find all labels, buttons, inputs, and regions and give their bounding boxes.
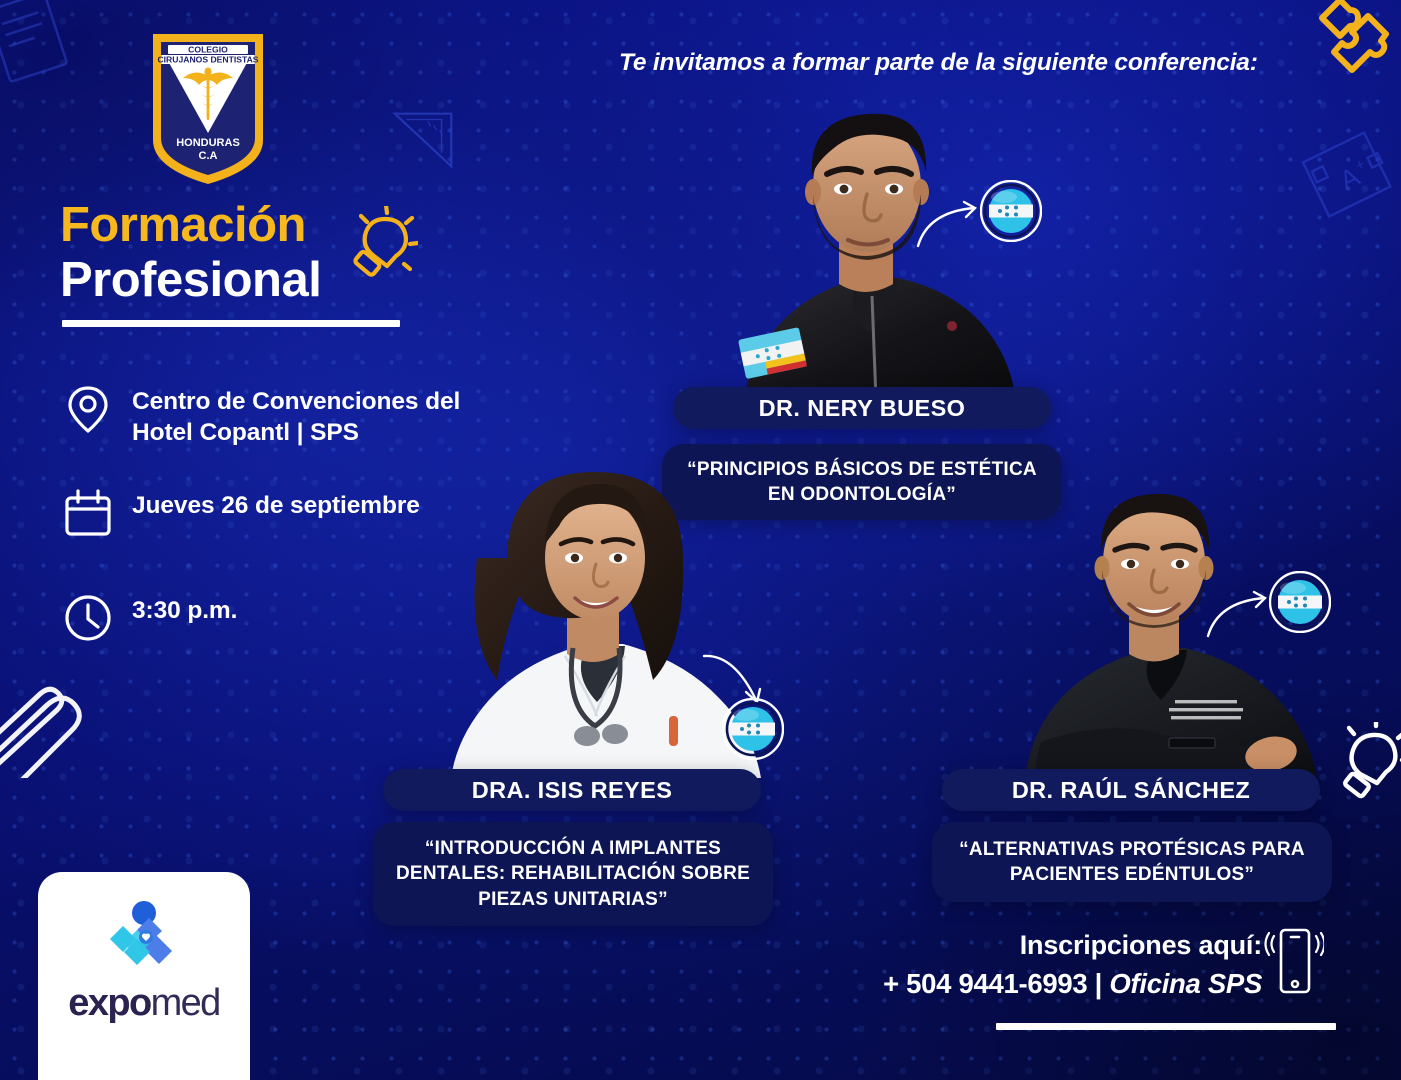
speaker-name-plate-1: DR. NERY BUESO (673, 387, 1051, 429)
invite-headline: Te invitamos a formar parte de la siguie… (619, 49, 1359, 77)
expomed-wordmark: expomed (68, 984, 219, 1022)
honduras-flag-badge-3 (1269, 571, 1331, 633)
speaker-photo-isis-reyes (415, 448, 775, 778)
registration-divider (996, 1023, 1336, 1030)
expomed-word-expo: expo (68, 982, 150, 1024)
expomed-person-icon (100, 900, 188, 974)
title-divider (62, 320, 400, 327)
speaker-topic-2: “INTRODUCCIÓN A IMPLANTESDENTALES: REHAB… (373, 822, 773, 926)
speaker-topic-3: “ALTERNATIVAS PROTÉSICAS PARAPACIENTES E… (932, 822, 1332, 902)
detail-time-text: 3:30 p.m. (132, 592, 237, 627)
honduras-flag-badge-2 (722, 698, 784, 760)
pointer-arrow-3 (1204, 582, 1278, 642)
registration-block: Inscripciones aquí: + 504 9441-6993 | Of… (840, 930, 1340, 1000)
detail-location-text: Centro de Convenciones delHotel Copantl … (132, 383, 460, 449)
flyer-canvas: A + (0, 0, 1401, 1080)
colegio-crest-logo: COLEGIO CIRUJANOS DENTISTAS HONDURAS C.A (147, 28, 269, 188)
honduras-flag-badge-1 (980, 180, 1042, 242)
detail-row-date: Jueves 26 de septiembre (62, 487, 420, 539)
pointer-arrow-1 (914, 192, 986, 252)
expomed-sponsor-card: expomed (38, 872, 250, 1080)
lightbulb-gold-icon (348, 206, 418, 284)
clock-icon (62, 592, 114, 644)
crest-top-text: COLEGIO (188, 45, 228, 55)
location-pin-icon (62, 383, 114, 435)
speaker-name-plate-2: DRA. ISIS REYES (383, 769, 761, 811)
detail-date-text: Jueves 26 de septiembre (132, 487, 420, 522)
registration-phone[interactable]: + 504 9441-6993 | (883, 968, 1102, 999)
detail-row-location: Centro de Convenciones delHotel Copantl … (62, 383, 460, 449)
registration-office: Oficina SPS (1109, 968, 1262, 999)
detail-row-time: 3:30 p.m. (62, 592, 237, 644)
expomed-word-med: med (151, 982, 220, 1024)
speaker-name-plate-3: DR. RAÚL SÁNCHEZ (942, 769, 1320, 811)
crest-country: HONDURAS (176, 137, 240, 149)
crest-region: C.A (199, 150, 218, 162)
crest-sub-text: CIRUJANOS DENTISTAS (157, 55, 258, 65)
mobile-phone-icon (1264, 922, 1324, 1000)
calendar-icon (62, 487, 114, 539)
